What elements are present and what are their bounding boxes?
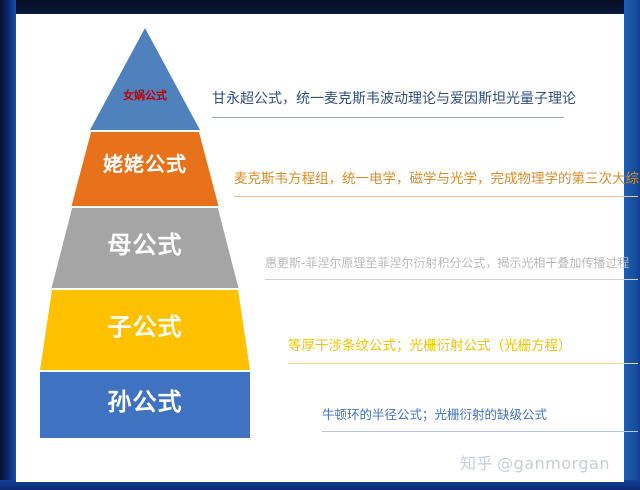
tier-2-underline: [234, 196, 638, 197]
pyramid-tier-1: 女娲公式: [40, 28, 250, 130]
tier-3-description: 惠更斯-菲涅尔原理至菲涅尔衍射积分公式，揭示光相干叠加传播过程: [265, 257, 629, 270]
tier-3-underline: [265, 279, 638, 280]
pyramid-diagram: 女娲公式 姥姥公式 母公式 子公式 孙公式: [40, 28, 250, 438]
slide-frame-top: [0, 0, 640, 14]
pyramid-tier-1-shape: [40, 28, 250, 130]
slide-frame-right: [624, 0, 640, 490]
pyramid-tier-5-label: 孙公式: [40, 390, 250, 414]
pyramid-tier-4-label: 子公式: [40, 315, 250, 339]
slide-canvas: 女娲公式 姥姥公式 母公式 子公式 孙公式 甘永超公式，统一麦克斯韦波动理论与爱…: [0, 0, 640, 490]
pyramid-tier-2: 姥姥公式: [40, 132, 250, 206]
watermark: 知乎@ganmorgan: [460, 450, 610, 474]
tier-5-description: 牛顿环的半径公式；光栅衍射的缺级公式: [322, 408, 547, 422]
pyramid-tier-5: 孙公式: [40, 372, 250, 438]
tier-4-description: 等厚干涉条纹公式；光栅衍射公式（光栅方程）: [288, 339, 572, 354]
pyramid-tier-3: 母公式: [40, 208, 250, 288]
tier-4-underline: [288, 363, 638, 364]
watermark-handle: @ganmorgan: [497, 454, 610, 473]
slide-frame-left: [0, 0, 16, 490]
tier-1-underline: [212, 117, 564, 118]
pyramid-tier-2-label: 姥姥公式: [40, 154, 250, 174]
tier-1-description: 甘永超公式，统一麦克斯韦波动理论与爱因斯坦光量子理论: [212, 92, 576, 107]
tier-5-underline: [322, 431, 638, 432]
pyramid-tier-4: 子公式: [40, 290, 250, 370]
watermark-site: 知乎: [460, 454, 493, 473]
pyramid-tier-3-label: 母公式: [40, 233, 250, 257]
tier-2-description: 麦克斯韦方程组，统一电学，磁学与光学，完成物理学的第三次大综合: [234, 172, 640, 187]
slide-content-area: 女娲公式 姥姥公式 母公式 子公式 孙公式 甘永超公式，统一麦克斯韦波动理论与爱…: [16, 14, 624, 482]
